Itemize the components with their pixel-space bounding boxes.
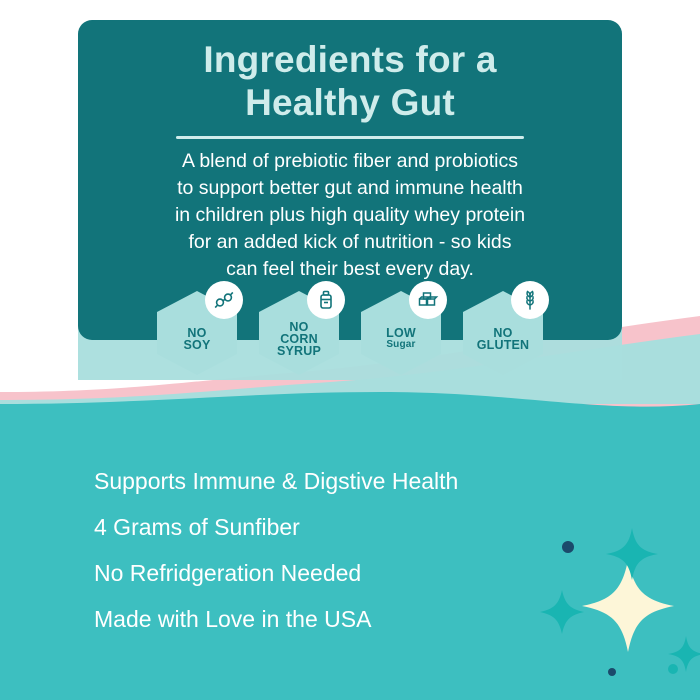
dot-navy — [562, 541, 574, 553]
sparkle-teal-icon — [606, 528, 658, 580]
sparkle-decorations — [0, 0, 700, 700]
sparkle-teal-icon — [540, 590, 584, 634]
infographic-page: Ingredients for a Healthy Gut A blend of… — [0, 0, 700, 700]
dot-teal — [668, 664, 678, 674]
sparkle-cream-icon — [582, 560, 674, 652]
dot-navy — [608, 668, 616, 676]
